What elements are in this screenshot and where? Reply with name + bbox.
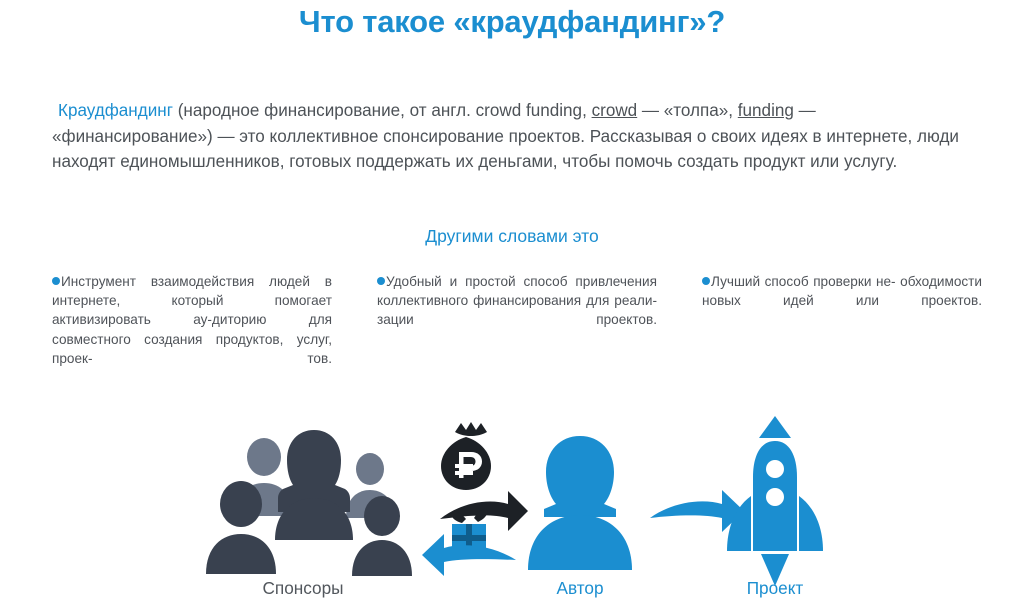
page-title: Что такое «краудфандинг»?: [0, 4, 1024, 40]
caption-author: Автор: [515, 578, 645, 599]
intro-text-part1: (народное финансирование, от англ. crowd…: [173, 101, 592, 120]
subheading: Другими словами это: [0, 226, 1024, 247]
bullet-text: Лучший способ проверки не- обходимости н…: [702, 274, 982, 308]
bullet-item: Лучший способ проверки не- обходимости н…: [702, 272, 982, 387]
intro-term-crowdfunding: Краудфандинг: [58, 101, 173, 120]
rocket-icon: [727, 416, 823, 586]
person-silhouette-icon: [528, 436, 632, 570]
crowdfunding-diagram: [0, 412, 1024, 608]
bullet-text: Удобный и простой способ привлечения кол…: [377, 274, 657, 327]
blue-dot-icon: [52, 277, 60, 285]
intro-text-part2: — «толпа»,: [637, 101, 738, 120]
bullet-text: Инструмент взаимодействия людей в интерн…: [52, 274, 332, 366]
bullet-item: Удобный и простой способ привлечения кол…: [377, 272, 657, 387]
bullet-item: Инструмент взаимодействия людей в интерн…: [52, 272, 332, 387]
intro-underlined-crowd: crowd: [592, 101, 638, 120]
blue-dot-icon: [377, 277, 385, 285]
caption-project: Проект: [710, 578, 840, 599]
intro-paragraph: Краудфандинг (народное финансирование, о…: [52, 98, 972, 175]
money-bag-ruble-icon: [441, 422, 491, 490]
people-group-icon: [206, 430, 412, 576]
arrow-right-project-icon: [650, 490, 744, 532]
intro-underlined-funding: funding: [738, 101, 794, 120]
caption-sponsors: Спонсоры: [208, 578, 398, 599]
blue-dot-icon: [702, 277, 710, 285]
bullet-columns: Инструмент взаимодействия людей в интерн…: [52, 272, 992, 387]
